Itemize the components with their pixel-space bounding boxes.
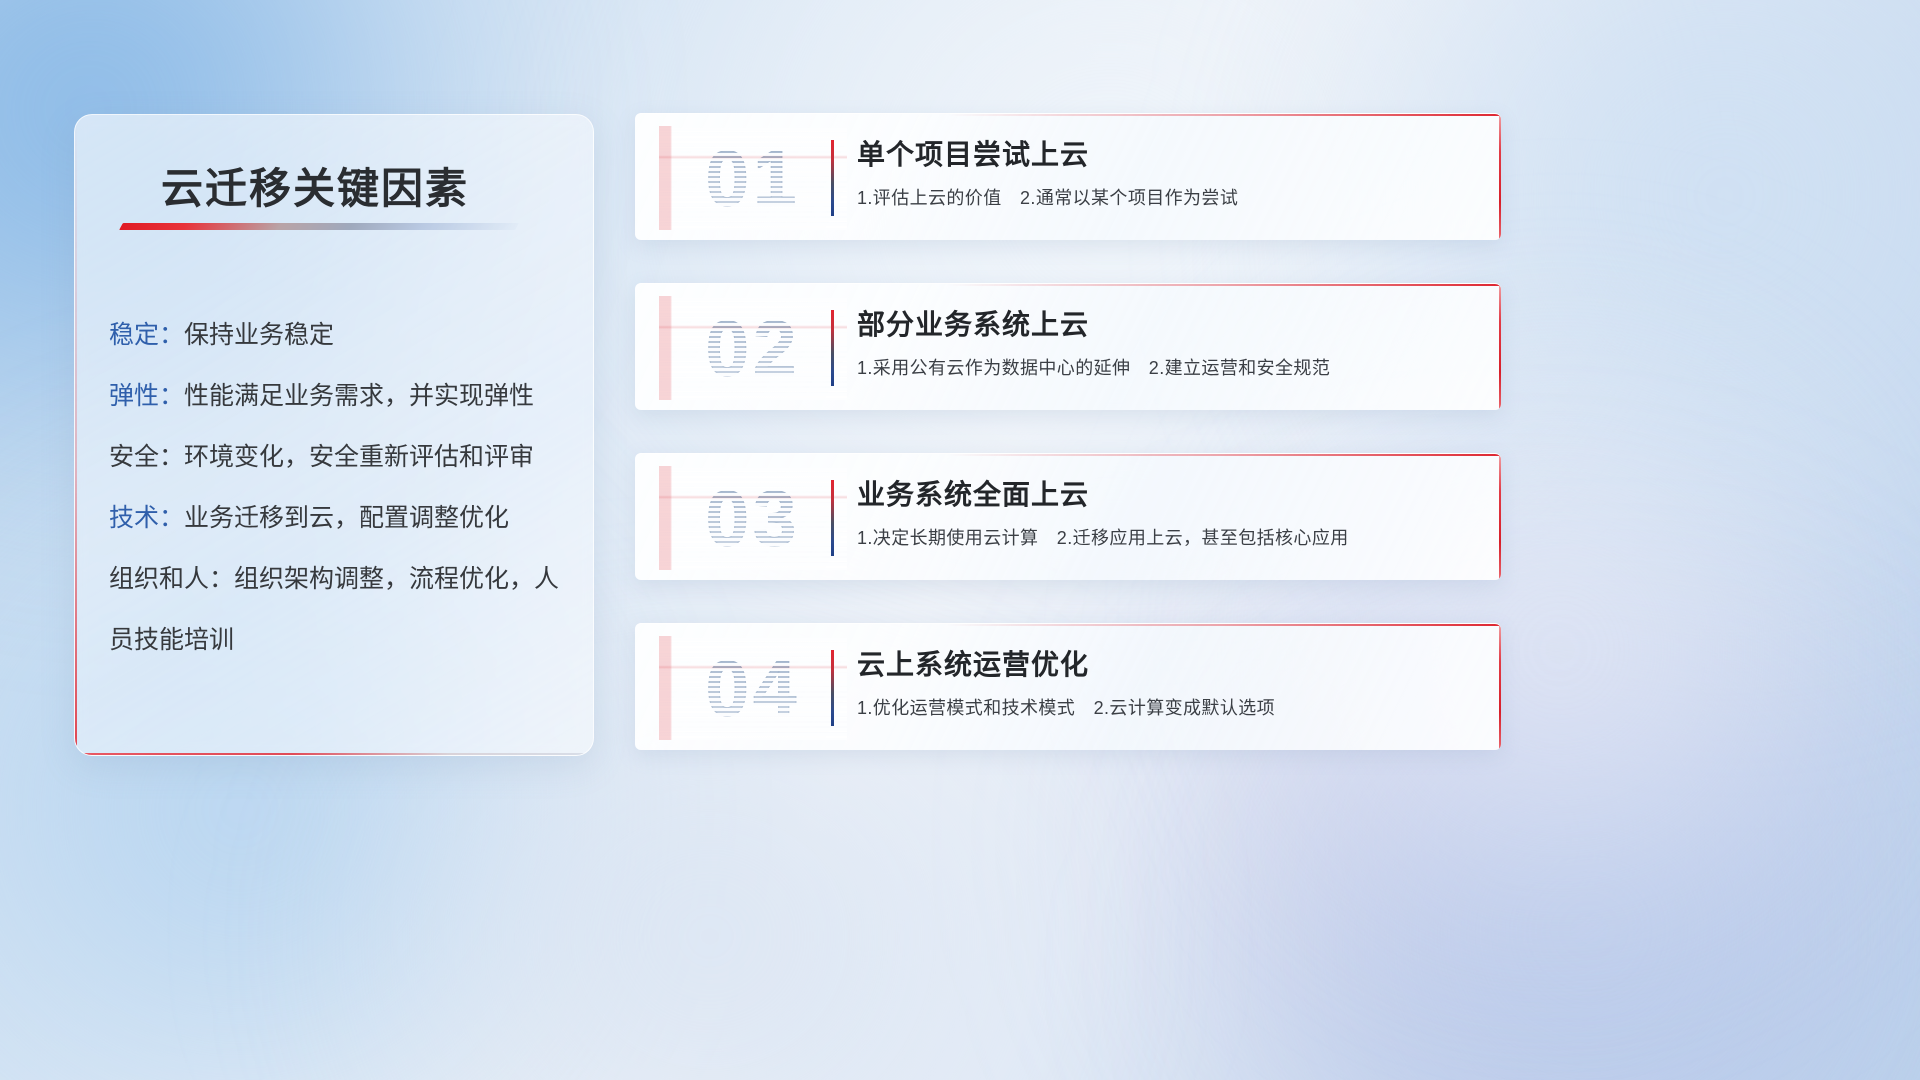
- step-card[interactable]: 02 部分业务系统上云 1.采用公有云作为数据中心的延伸 2.建立运营和安全规范: [635, 283, 1501, 410]
- step-accent-bar: [831, 480, 834, 556]
- factor-label: 稳定：: [109, 321, 184, 349]
- title-underline-accent: [119, 223, 519, 230]
- step-title: 单个项目尝试上云: [857, 132, 1471, 178]
- key-factors-panel: 云迁移关键因素 稳定：保持业务稳定 弹性：性能满足业务需求，并实现弹性 安全：环…: [74, 114, 594, 756]
- step-title: 云上系统运营优化: [857, 642, 1471, 688]
- step-description: 1.优化运营模式和技术模式 2.云计算变成默认选项: [857, 694, 1471, 722]
- factor-text: 保持业务稳定: [184, 321, 334, 349]
- list-item: 稳定：保持业务稳定: [109, 305, 569, 366]
- list-item: 弹性：性能满足业务需求，并实现弹性: [109, 366, 569, 427]
- step-content: 部分业务系统上云 1.采用公有云作为数据中心的延伸 2.建立运营和安全规范: [857, 302, 1471, 382]
- factor-text: 业务迁移到云，配置调整优化: [184, 504, 509, 532]
- page-title: 云迁移关键因素: [161, 155, 469, 216]
- step-content: 单个项目尝试上云 1.评估上云的价值 2.通常以某个项目作为尝试: [857, 132, 1471, 212]
- factor-text: 性能满足业务需求，并实现弹性: [184, 382, 534, 410]
- factor-text: 环境变化，安全重新评估和评审: [184, 443, 534, 471]
- factor-label: 组织和人：: [109, 565, 234, 593]
- step-number: 04: [659, 636, 847, 740]
- slide-stage: 云迁移关键因素 稳定：保持业务稳定 弹性：性能满足业务需求，并实现弹性 安全：环…: [0, 0, 1920, 1080]
- step-card[interactable]: 04 云上系统运营优化 1.优化运营模式和技术模式 2.云计算变成默认选项: [635, 623, 1501, 750]
- step-description: 1.采用公有云作为数据中心的延伸 2.建立运营和安全规范: [857, 354, 1471, 382]
- step-card[interactable]: 03 业务系统全面上云 1.决定长期使用云计算 2.迁移应用上云，甚至包括核心应…: [635, 453, 1501, 580]
- step-number: 03: [659, 466, 847, 570]
- step-content: 云上系统运营优化 1.优化运营模式和技术模式 2.云计算变成默认选项: [857, 642, 1471, 722]
- step-accent-bar: [831, 650, 834, 726]
- list-item: 安全：环境变化，安全重新评估和评审: [109, 427, 569, 488]
- step-description: 1.决定长期使用云计算 2.迁移应用上云，甚至包括核心应用: [857, 524, 1471, 552]
- migration-steps-list: 01 单个项目尝试上云 1.评估上云的价值 2.通常以某个项目作为尝试 02 部…: [635, 113, 1501, 793]
- key-factors-list: 稳定：保持业务稳定 弹性：性能满足业务需求，并实现弹性 安全：环境变化，安全重新…: [109, 305, 569, 671]
- step-number: 02: [659, 296, 847, 400]
- step-number: 01: [659, 126, 847, 230]
- step-description: 1.评估上云的价值 2.通常以某个项目作为尝试: [857, 184, 1471, 212]
- step-title: 部分业务系统上云: [857, 302, 1471, 348]
- factor-label: 弹性：: [109, 382, 184, 410]
- factor-label: 技术：: [109, 504, 184, 532]
- factor-label: 安全：: [109, 443, 184, 471]
- list-item: 技术：业务迁移到云，配置调整优化: [109, 488, 569, 549]
- step-title: 业务系统全面上云: [857, 472, 1471, 518]
- step-content: 业务系统全面上云 1.决定长期使用云计算 2.迁移应用上云，甚至包括核心应用: [857, 472, 1471, 552]
- step-card[interactable]: 01 单个项目尝试上云 1.评估上云的价值 2.通常以某个项目作为尝试: [635, 113, 1501, 240]
- step-accent-bar: [831, 140, 834, 216]
- step-accent-bar: [831, 310, 834, 386]
- list-item: 组织和人：组织架构调整，流程优化，人员技能培训: [109, 549, 569, 671]
